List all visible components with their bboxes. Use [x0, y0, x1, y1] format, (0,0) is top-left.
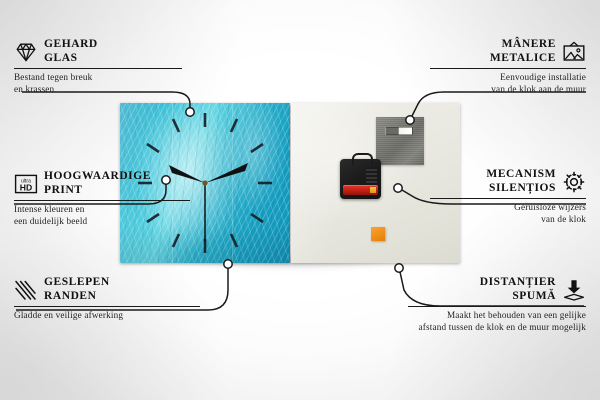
- callout-title-line1: MÂNERE: [490, 38, 556, 52]
- callout-rule: [14, 68, 182, 69]
- callout-desc-line2: een duidelijk beeld: [14, 216, 190, 228]
- callout-rule: [430, 68, 586, 69]
- gear-icon: [562, 170, 586, 194]
- callout-desc-line1: Eenvoudige installatie: [430, 72, 586, 84]
- svg-text:HD: HD: [20, 182, 32, 192]
- callout-title-line2: METALICE: [490, 52, 556, 66]
- callout-title-line2: SPUMĂ: [480, 290, 556, 304]
- picture-frame-icon: [562, 40, 586, 64]
- callout-geslepen-randen: GESLEPEN RANDEN Gladde en veilige afwerk…: [14, 276, 200, 322]
- callout-rule: [14, 200, 190, 201]
- mechanism-battery: [343, 185, 378, 195]
- callout-desc-line2: van de klok: [430, 214, 586, 226]
- callout-desc-line1: Intense kleuren en: [14, 204, 190, 216]
- callout-title-line1: DISTANȚIER: [480, 276, 556, 290]
- callout-desc-line2: en krassen: [14, 84, 182, 96]
- hanger-slot: [385, 127, 413, 135]
- callout-desc-line2: van de klok aan de muur: [430, 84, 586, 96]
- metal-hanger-plate: [376, 117, 424, 165]
- infographic-canvas: GEHARD GLAS Bestand tegen breuk en krass…: [0, 0, 600, 400]
- callout-hoogwaardige-print: ultra HD HOOGWAARDIGE PRINT Intense kleu…: [14, 170, 190, 227]
- spacer-arrow-icon: [562, 278, 586, 302]
- mechanism-hanger-loop: [352, 153, 373, 165]
- callout-manere-metalice: MÂNERE METALICE Eenvoudige installatie v…: [430, 38, 586, 95]
- foam-spacer: [371, 227, 385, 241]
- callout-rule: [430, 198, 586, 199]
- callout-desc-line1: Gladde en veilige afwerking: [14, 310, 200, 322]
- callout-desc-line1: Geruisloze wijzers: [430, 202, 586, 214]
- silent-clock-mechanism: [340, 159, 381, 199]
- callout-desc-line1: Bestand tegen breuk: [14, 72, 182, 84]
- diamond-icon: [14, 40, 38, 64]
- callout-title-line2: SILENȚIOS: [486, 182, 556, 196]
- beveled-edges-icon: [14, 278, 38, 302]
- callout-desc-line1: Maakt het behouden van een gelijke: [408, 310, 586, 322]
- callout-distantier-spuma: DISTANȚIER SPUMĂ Maakt het behouden van …: [408, 276, 586, 333]
- ultra-hd-icon: ultra HD: [14, 172, 38, 196]
- callout-title-line2: GLAS: [44, 52, 98, 66]
- callout-title-line1: GESLEPEN: [44, 276, 110, 290]
- callout-rule: [14, 306, 200, 307]
- callout-title-line1: MECANISM: [486, 168, 556, 182]
- callout-desc-line2: afstand tussen de klok en de muur mogeli…: [408, 322, 586, 334]
- callout-title-line1: HOOGWAARDIGE: [44, 170, 151, 184]
- mechanism-detail: [366, 167, 377, 183]
- callout-title-line1: GEHARD: [44, 38, 98, 52]
- callout-title-line2: PRINT: [44, 184, 151, 198]
- callout-gehard-glas: GEHARD GLAS Bestand tegen breuk en krass…: [14, 38, 182, 95]
- callout-title-line2: RANDEN: [44, 290, 110, 304]
- callout-rule: [408, 306, 586, 307]
- callout-mecanism-silentios: MECANISM SILENȚIOS Geruisloze wijzers va…: [430, 168, 586, 225]
